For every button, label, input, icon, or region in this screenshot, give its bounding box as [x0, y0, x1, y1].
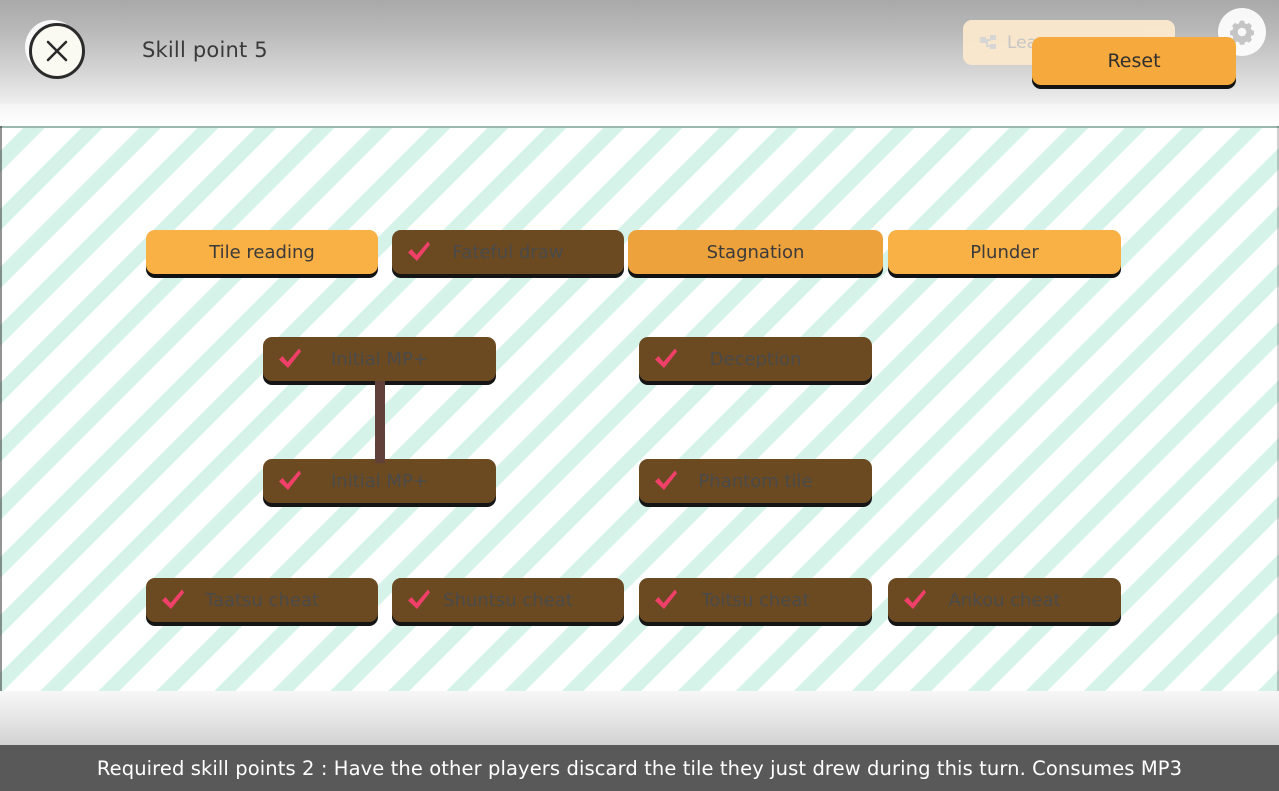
skill-node-deception[interactable]: Deception	[639, 337, 872, 381]
skill-node-initial-mp-2[interactable]: Initial MP+	[263, 459, 496, 503]
page-title: Skill point 5	[142, 38, 268, 62]
skill-node-label: Initial MP+	[331, 349, 428, 370]
skill-description-text: Required skill points 2 : Have the other…	[97, 757, 1182, 780]
reset-button-label: Reset	[1107, 50, 1160, 72]
skill-node-label: Shuntsu cheat	[443, 590, 573, 611]
skill-description-bar: Required skill points 2 : Have the other…	[0, 745, 1279, 791]
panel-left-edge	[0, 126, 2, 691]
skill-node-shuntsu-cheat[interactable]: Shuntsu cheat	[392, 578, 624, 622]
check-icon	[902, 588, 928, 612]
close-icon	[44, 38, 70, 64]
skill-node-label: Toitsu cheat	[702, 590, 810, 611]
close-button[interactable]	[29, 23, 85, 79]
skill-node-ankou-cheat[interactable]: Ankou cheat	[888, 578, 1121, 622]
reset-button[interactable]: Reset	[1032, 37, 1236, 85]
skill-node-label: Phantom tile	[698, 471, 812, 492]
skill-node-label: Tile reading	[209, 242, 315, 263]
skill-node-fateful-draw[interactable]: Fateful draw	[392, 230, 624, 274]
skill-tree-screen: Tile readingFateful drawStagnationPlunde…	[0, 0, 1279, 791]
skill-node-label: Deception	[710, 349, 802, 370]
skill-node-toitsu-cheat[interactable]: Toitsu cheat	[639, 578, 872, 622]
skill-node-tile-reading[interactable]: Tile reading	[146, 230, 378, 274]
check-icon	[160, 588, 186, 612]
skill-node-taatsu-cheat[interactable]: Taatsu cheat	[146, 578, 378, 622]
skill-node-label: Ankou cheat	[948, 590, 1060, 611]
skill-node-phantom-tile[interactable]: Phantom tile	[639, 459, 872, 503]
skill-node-plunder[interactable]: Plunder	[888, 230, 1121, 274]
skill-node-stagnation[interactable]: Stagnation	[628, 230, 883, 274]
skill-node-label: Taatsu cheat	[205, 590, 319, 611]
check-icon	[406, 588, 432, 612]
check-icon	[406, 240, 432, 264]
check-icon	[653, 469, 679, 493]
skill-node-label: Fateful draw	[453, 242, 564, 263]
check-icon	[653, 588, 679, 612]
panel-lower-gradient	[0, 691, 1279, 745]
skill-node-label: Initial MP+	[331, 471, 428, 492]
skill-node-label: Stagnation	[707, 242, 805, 263]
skill-tree-panel: Tile readingFateful drawStagnationPlunde…	[0, 126, 1279, 691]
check-icon	[277, 469, 303, 493]
check-icon	[653, 347, 679, 371]
header-underband	[0, 104, 1279, 126]
skill-node-initial-mp-1[interactable]: Initial MP+	[263, 337, 496, 381]
skill-connector	[375, 381, 385, 463]
skill-tree-icon	[980, 35, 998, 51]
skill-node-label: Plunder	[970, 242, 1039, 263]
check-icon	[277, 347, 303, 371]
